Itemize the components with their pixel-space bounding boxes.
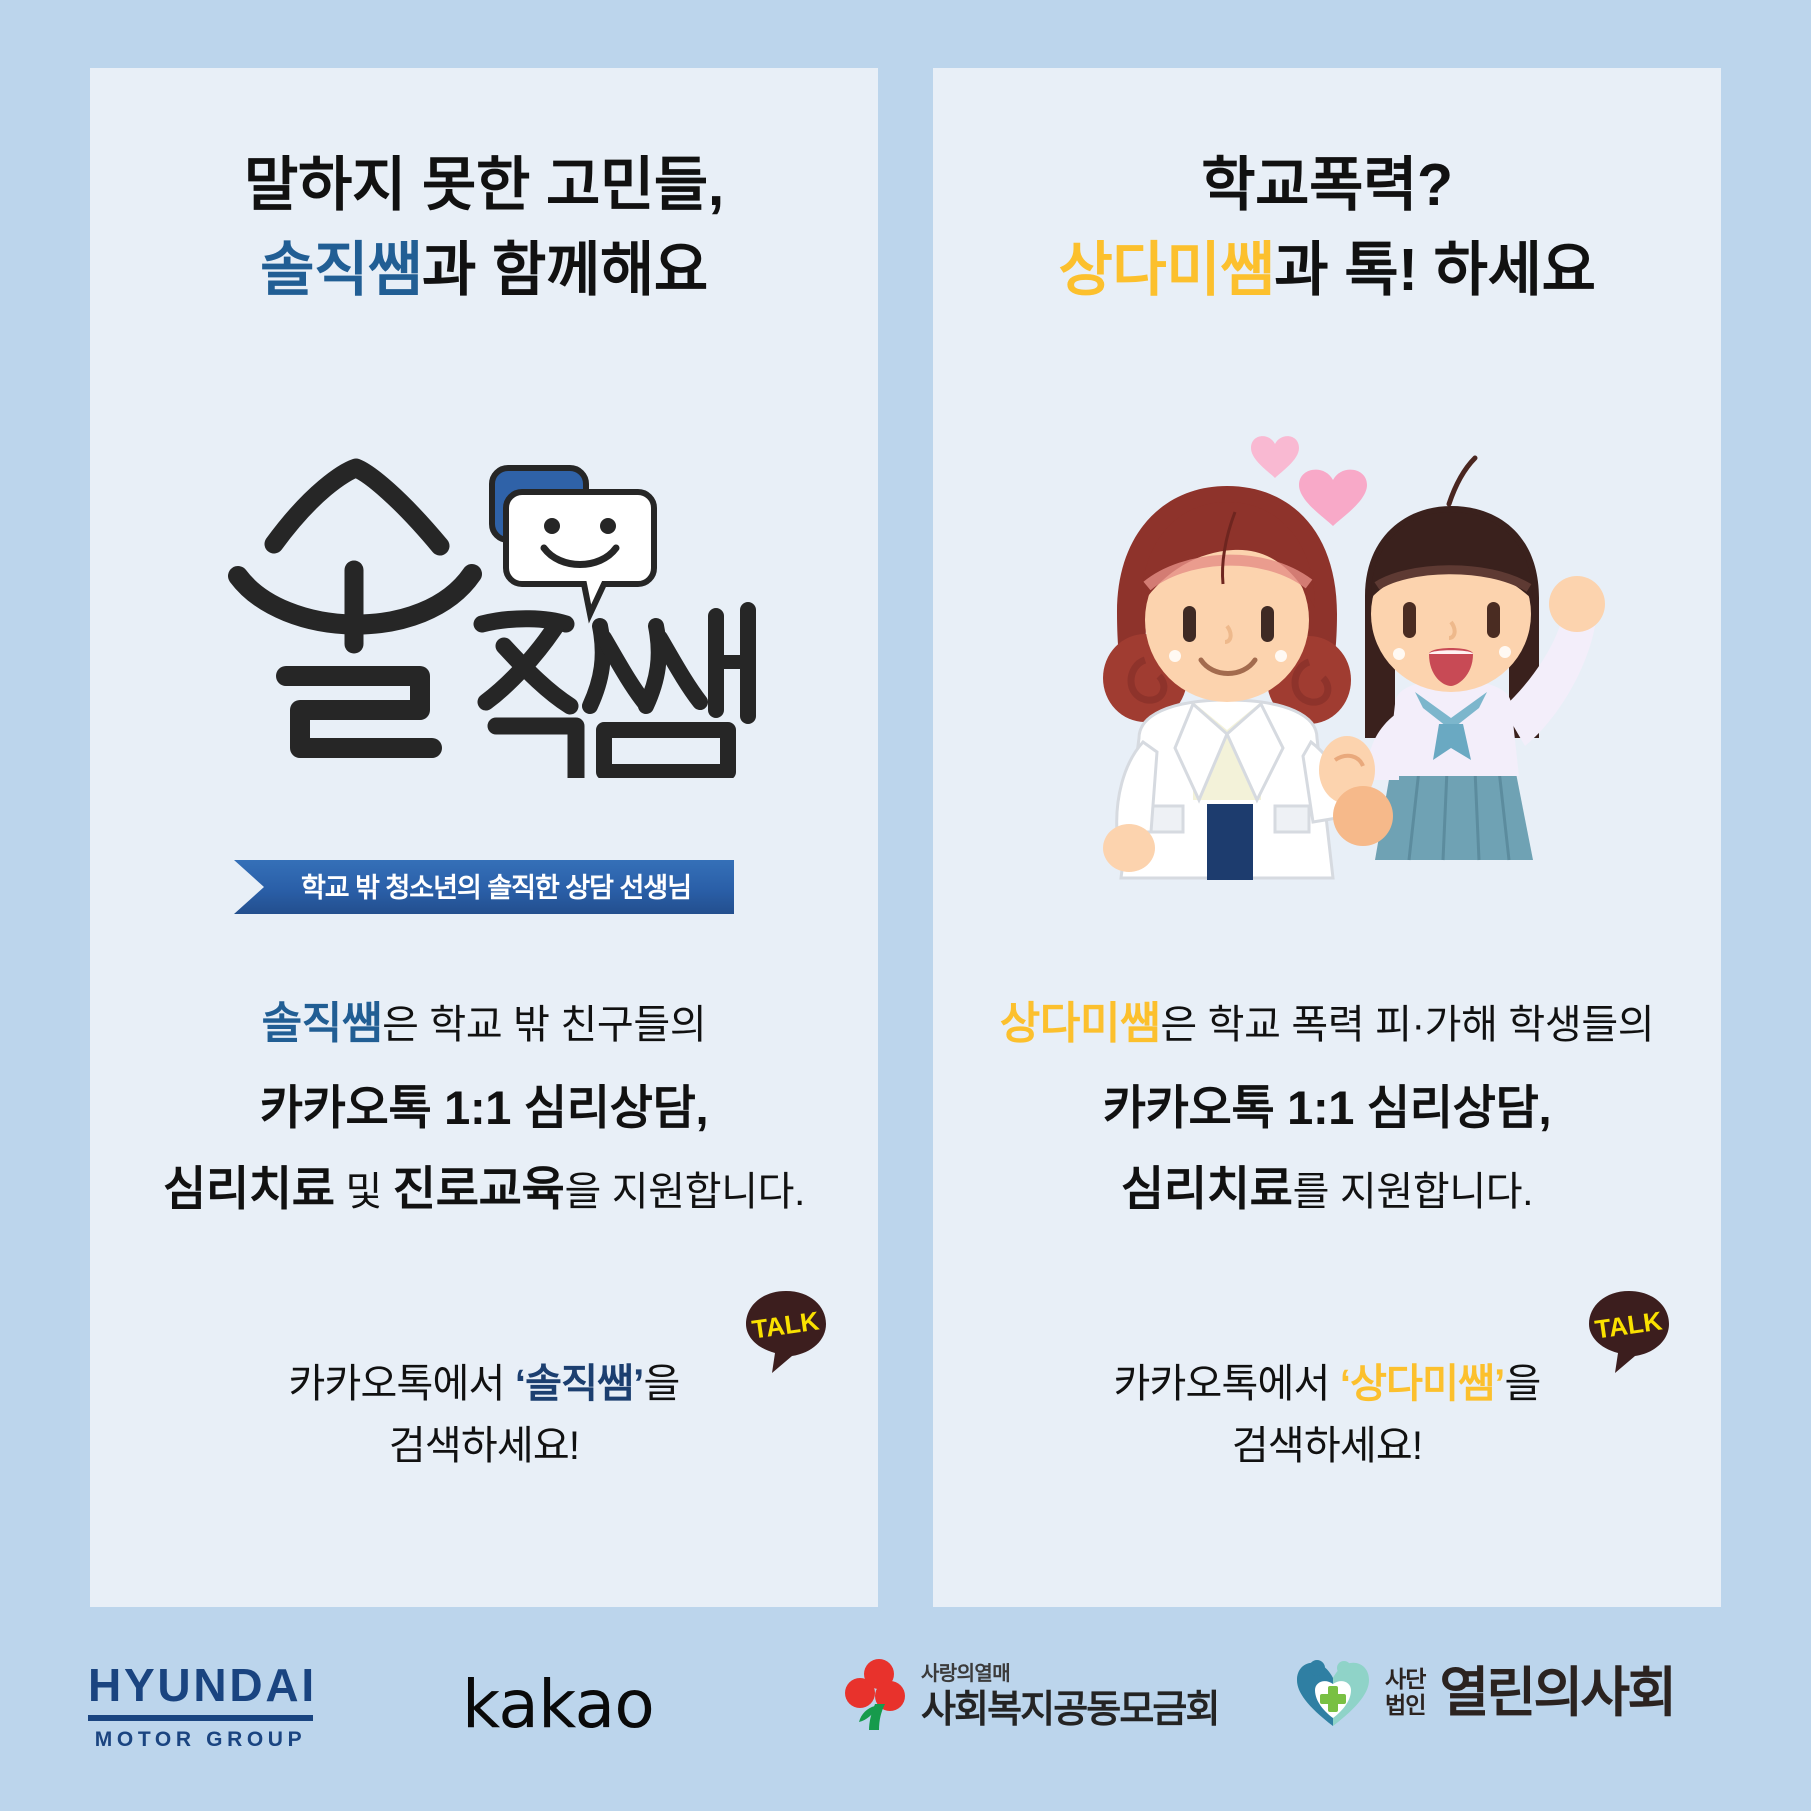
right-body-line1: 상다미쌤은 학교 폭력 피·가해 학생들의 <box>933 993 1721 1055</box>
left-body-line3-c: 진로교육 <box>393 1162 565 1215</box>
right-body-text: 상다미쌤은 학교 폭력 피·가해 학생들의 카카오톡 1:1 심리상담, 심리치… <box>933 993 1721 1237</box>
kakao-wordmark: kakao <box>462 1672 654 1738</box>
right-heading: 학교폭력? 상다미쌤과 톡! 하세요 <box>933 156 1721 300</box>
right-search-suffix: 을 <box>1504 1362 1540 1406</box>
right-body-line1-rest: 은 학교 폭력 피·가해 학생들의 <box>1160 1003 1654 1047</box>
hyundai-subtitle: MOTOR GROUP <box>88 1729 313 1750</box>
right-body-line3-a: 심리치료 <box>1121 1162 1293 1215</box>
poster-root: 말하지 못한 고민들, 솔직쌤과 함께해요 <box>0 0 1811 1811</box>
student-character <box>1365 458 1605 860</box>
right-body-line3-b: 를 지원합니다. <box>1293 1170 1533 1214</box>
left-heading-line2: 솔직쌤과 함께해요 <box>90 241 878 300</box>
open-doctors-legal-line2: 법인 <box>1385 1693 1425 1719</box>
panel-soljjikssaem: 말하지 못한 고민들, 솔직쌤과 함께해요 <box>90 68 878 1607</box>
left-search-line2: 검색하세요! <box>389 1424 579 1468</box>
fruit-of-love-icon <box>845 1658 909 1732</box>
soljjikssaem-ribbon: 학교 밖 청소년의 솔직한 상담 선생님 <box>234 858 734 921</box>
left-search-prefix: 카카오톡에서 <box>289 1362 515 1406</box>
right-search-prompt: 카카오톡에서 ‘상다미쌤’을 검색하세요! <box>933 1353 1721 1477</box>
left-body-line1: 솔직쌤은 학교 밖 친구들의 <box>90 993 878 1055</box>
chat-bubble-front-smiley <box>506 492 654 614</box>
open-doctors-legal-line1: 사단 <box>1385 1667 1425 1693</box>
right-search-prefix: 카카오톡에서 <box>1114 1362 1340 1406</box>
left-body-line3: 심리치료 및 진로교육을 지원합니다. <box>90 1156 878 1223</box>
left-body-keyword: 솔직쌤 <box>262 999 382 1048</box>
left-search-suffix: 을 <box>643 1362 679 1406</box>
left-body-line2: 카카오톡 1:1 심리상담, <box>90 1075 878 1142</box>
logo-hyundai-motor-group: HYUNDAI MOTOR GROUP <box>88 1662 313 1750</box>
logo-open-doctors-society: 사단 법인 열린의사회 <box>1295 1656 1674 1730</box>
left-body-line3-b: 및 <box>335 1170 393 1214</box>
open-doctors-wordmark: 열린의사회 <box>1439 1666 1674 1720</box>
left-search-prompt: 카카오톡에서 ‘솔직쌤’을 검색하세요! <box>90 1353 878 1477</box>
community-chest-tagline: 사랑의열매 <box>921 1664 1219 1684</box>
left-body-text: 솔직쌤은 학교 밖 친구들의 카카오톡 1:1 심리상담, 심리치료 및 진로교… <box>90 993 878 1237</box>
ribbon-label: 학교 밖 청소년의 솔직한 상담 선생님 <box>301 873 691 903</box>
right-heading-line1: 학교폭력? <box>933 156 1721 215</box>
left-heading: 말하지 못한 고민들, 솔직쌤과 함께해요 <box>90 156 878 300</box>
community-chest-wordmark: 사회복지공동모금회 <box>921 1691 1219 1729</box>
heart-icon-large <box>1299 470 1367 526</box>
soljjikssaem-logo <box>90 448 878 778</box>
open-doctors-heart-icon <box>1295 1656 1371 1730</box>
counselor-student-illustration <box>1047 408 1607 893</box>
hyundai-rule <box>88 1715 313 1721</box>
left-body-line3-d: 을 지원합니다. <box>564 1170 804 1214</box>
right-heading-line2: 상다미쌤과 톡! 하세요 <box>933 241 1721 300</box>
right-search-line2: 검색하세요! <box>1232 1424 1422 1468</box>
right-body-line2: 카카오톡 1:1 심리상담, <box>933 1075 1721 1142</box>
logo-kakao: kakao <box>462 1672 654 1738</box>
right-heading-keyword: 상다미쌤 <box>1058 237 1274 303</box>
sponsor-logo-bar: HYUNDAI MOTOR GROUP kakao 사랑의열매 사회복지공동모금… <box>0 1640 1811 1780</box>
counselor-character <box>1103 486 1393 880</box>
panel-sangdamissaem: 학교폭력? 상다미쌤과 톡! 하세요 <box>933 68 1721 1607</box>
hyundai-wordmark: HYUNDAI <box>88 1662 313 1708</box>
panel-container: 말하지 못한 고민들, 솔직쌤과 함께해요 <box>90 68 1721 1607</box>
left-heading-line1: 말하지 못한 고민들, <box>90 156 878 215</box>
left-heading-keyword: 솔직쌤 <box>260 237 422 303</box>
open-doctors-legal-form: 사단 법인 <box>1385 1667 1425 1719</box>
right-search-keyword: ‘상다미쌤’ <box>1340 1362 1505 1406</box>
left-search-keyword: ‘솔직쌤’ <box>515 1362 644 1406</box>
right-body-line3: 심리치료를 지원합니다. <box>933 1156 1721 1223</box>
soljjikssaem-logo-svg <box>204 448 764 778</box>
ribbon-svg: 학교 밖 청소년의 솔직한 상담 선생님 <box>234 858 734 916</box>
right-body-keyword: 상다미쌤 <box>1000 999 1161 1048</box>
illustration-svg <box>1047 408 1607 888</box>
right-heading-rest: 과 톡! 하세요 <box>1274 237 1595 303</box>
left-body-line1-rest: 은 학교 밖 친구들의 <box>382 1003 706 1047</box>
left-body-line3-a: 심리치료 <box>163 1162 335 1215</box>
logo-community-chest: 사랑의열매 사회복지공동모금회 <box>845 1658 1219 1732</box>
heart-icon-small <box>1251 436 1299 478</box>
left-heading-rest: 과 함께해요 <box>422 237 708 303</box>
